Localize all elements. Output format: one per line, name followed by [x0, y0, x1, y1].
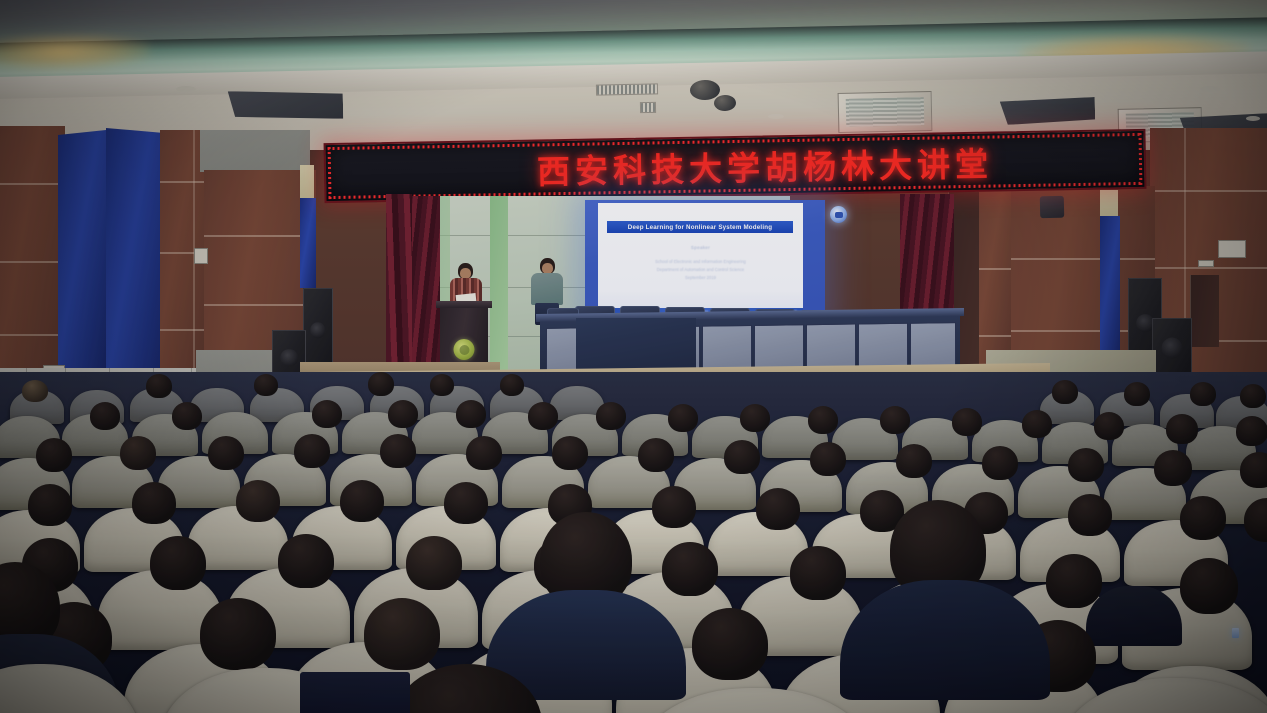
slide-body-line-3: September 2019: [598, 275, 803, 281]
audience-head: [810, 442, 846, 476]
audience-head: [1052, 380, 1078, 404]
audience-head: [22, 380, 48, 402]
audience-head: [278, 534, 334, 588]
blue-column-left-3: [300, 198, 316, 288]
smoke-detector-center: [768, 114, 784, 119]
podium-emblem-icon: [454, 339, 475, 360]
wall-panel-box-right: [1218, 240, 1246, 258]
audience-head: [444, 482, 488, 524]
slide-title-text: Deep Learning for Nonlinear System Model…: [628, 224, 772, 231]
audience-head: [528, 402, 558, 430]
audience-head: [808, 406, 838, 434]
audience-head: [364, 598, 440, 670]
audience-head: [340, 480, 384, 522]
audience-head: [552, 436, 588, 470]
panel-table-cell: [702, 325, 752, 372]
panel-table-cell: [910, 322, 956, 369]
audience-head: [724, 440, 760, 474]
wall-spotlight-right: [1040, 196, 1064, 218]
audience-head: [146, 374, 172, 398]
speaker-cabinet-right-lower: [1152, 318, 1192, 380]
host-shirt: [531, 273, 563, 305]
smoke-detector-far: [1246, 116, 1260, 121]
audience-head: [150, 536, 206, 590]
audience-head: [120, 436, 156, 470]
audience-head: [668, 404, 698, 432]
seat-front-left[interactable]: [0, 664, 140, 713]
blue-column-left-2: [106, 128, 164, 378]
audience-head: [1166, 414, 1198, 444]
wall-cream-strip-left: [300, 165, 314, 201]
audience-head: [380, 434, 416, 468]
audience-head: [756, 488, 800, 530]
panel-table-cell: [806, 324, 856, 371]
electrical-cabinet-right[interactable]: [1190, 275, 1219, 347]
slide-body-line-2: Department of Automation and Control Sci…: [598, 267, 803, 273]
seat-base: [300, 672, 410, 713]
audience-head: [1180, 558, 1238, 614]
backdrop-green-stripe: [490, 196, 508, 371]
audience-head: [368, 372, 394, 396]
audience-head: [692, 608, 768, 680]
audience-head: [1240, 452, 1267, 488]
audience-head: [880, 406, 910, 434]
ceiling-grille-small: [640, 102, 656, 113]
lecture-hall-photo: 西安科技大学胡杨林大讲堂 Deep Learning for Nonlinear…: [0, 0, 1267, 713]
ceiling-vent-left: [228, 89, 344, 121]
audience-head: [662, 542, 718, 596]
audience-head: [982, 446, 1018, 480]
smoke-detector-left: [176, 86, 196, 92]
smoke-detector-right: [1200, 86, 1220, 92]
presentation-slide: Deep Learning for Nonlinear System Model…: [598, 203, 803, 313]
blue-column-left-1: [58, 130, 106, 378]
audience-head: [28, 484, 72, 526]
audience-head: [638, 438, 674, 472]
wall-sensor-right: [1198, 260, 1214, 267]
audience-head: [466, 436, 502, 470]
audience-head: [1124, 382, 1150, 406]
audience-head: [456, 400, 486, 428]
audience-head: [90, 402, 120, 430]
audience-head: [200, 598, 276, 670]
audience-head: [1180, 496, 1226, 540]
hvac-cassette-center: [838, 91, 933, 133]
audience-head: [254, 374, 278, 396]
panel-table-cell: [754, 324, 804, 371]
blue-column-right: [1100, 216, 1120, 360]
panel-table-cell: [858, 323, 908, 370]
audience-head: [388, 400, 418, 428]
wall-switch-box-left: [194, 248, 208, 264]
audience-head: [1154, 450, 1192, 486]
slide-subtitle: Speaker: [598, 245, 803, 250]
audience-head: [236, 480, 280, 522]
audience-head: [1068, 448, 1104, 482]
audience-head: [172, 402, 202, 430]
ceiling-grille-center: [596, 83, 658, 95]
audience-head: [896, 444, 932, 478]
ceiling-warm-spot-left: [0, 32, 150, 72]
audience-head: [36, 438, 72, 472]
podium-top-surface: [436, 301, 492, 308]
audience-head: [1240, 384, 1266, 408]
wall-gray-panel-upper: [200, 130, 310, 172]
audience-head: [208, 436, 244, 470]
audience-head: [294, 434, 330, 468]
audience-head: [1046, 554, 1102, 608]
audience-head: [1068, 494, 1112, 536]
projection-screen: Deep Learning for Nonlinear System Model…: [585, 200, 825, 322]
audience-head: [406, 536, 462, 590]
audience-head: [596, 402, 626, 430]
audience-head: [740, 404, 770, 432]
audience-head: [1022, 410, 1052, 438]
stage-curtain-left-outer: [386, 194, 412, 378]
audience-area: [0, 372, 1267, 713]
audience-head: [132, 482, 176, 524]
audience-head: [500, 374, 524, 396]
audience-head: [790, 546, 846, 600]
audience-head: [1094, 412, 1124, 440]
audience-head: [312, 400, 342, 428]
wall-panel-far-left: [0, 126, 65, 386]
audience-head: [1190, 382, 1216, 406]
university-seal-watermark-icon: [830, 206, 847, 223]
led-banner-text: 西安科技大学胡杨林大讲堂: [326, 135, 1145, 197]
smartphone-screen[interactable]: [1232, 628, 1239, 638]
slide-body-line-1: School of Electronic and Information Eng…: [598, 259, 803, 265]
audience-head: [952, 408, 982, 436]
audience-head: [1236, 416, 1267, 446]
audience-head: [430, 374, 454, 396]
slide-title-bar: Deep Learning for Nonlinear System Model…: [607, 221, 793, 233]
audience-head: [652, 486, 696, 528]
